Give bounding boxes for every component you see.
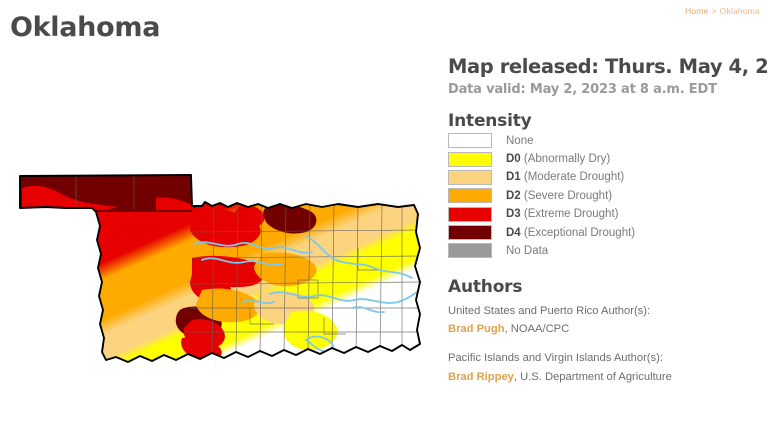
author-line: Brad Pugh, NOAA/CPC <box>448 319 762 337</box>
data-valid-date: Data valid: May 2, 2023 at 8 a.m. EDT <box>448 82 762 97</box>
legend-rows: NoneD0 (Abnormally Dry)D1 (Moderate Drou… <box>448 131 762 260</box>
authors-title: Authors <box>448 277 762 297</box>
legend-label: No Data <box>506 245 548 257</box>
author-name[interactable]: Brad Pugh <box>448 323 505 335</box>
legend-swatch-D2 <box>448 188 492 203</box>
author-affiliation: , U.S. Department of Agriculture <box>514 371 672 383</box>
breadcrumb-home[interactable]: Home <box>685 6 708 16</box>
breadcrumb-separator: > <box>711 6 716 16</box>
legend-row-no-data: No Data <box>448 242 762 260</box>
legend-swatch-D3 <box>448 207 492 222</box>
map-released-date: Map released: Thurs. May 4, 2023 <box>448 56 762 78</box>
legend-label: D0 (Abnormally Dry) <box>506 153 610 165</box>
legend-swatch-D4 <box>448 225 492 240</box>
author-entries: United States and Puerto Rico Author(s):… <box>448 303 762 384</box>
legend-label: D4 (Exceptional Drought) <box>506 227 635 239</box>
legend-row-d0: D0 (Abnormally Dry) <box>448 150 762 168</box>
author-block-2: Pacific Islands and Virgin Islands Autho… <box>448 350 762 384</box>
oklahoma-drought-monitor-map <box>6 162 438 392</box>
legend-row-d4: D4 (Exceptional Drought) <box>448 223 762 241</box>
legend-swatch-no-data <box>448 243 492 258</box>
map-svg <box>6 162 438 392</box>
legend-row-d2: D2 (Severe Drought) <box>448 187 762 205</box>
legend-swatch-D1 <box>448 170 492 185</box>
author-role: Pacific Islands and Virgin Islands Autho… <box>448 350 762 366</box>
breadcrumb: Home>Oklahoma <box>685 6 760 16</box>
legend-label: D2 (Severe Drought) <box>506 190 612 202</box>
legend-swatch-D0 <box>448 152 492 167</box>
legend-label: None <box>506 135 534 147</box>
legend-title: Intensity <box>448 111 762 131</box>
page-title: Oklahoma <box>10 12 160 43</box>
legend-swatch-none <box>448 133 492 148</box>
legend-row-none: None <box>448 131 762 149</box>
intensity-legend: Intensity NoneD0 (Abnormally Dry)D1 (Mod… <box>448 111 762 260</box>
info-panel: Map released: Thurs. May 4, 2023 Data va… <box>448 56 762 385</box>
author-name[interactable]: Brad Rippey <box>448 371 514 383</box>
breadcrumb-current: Oklahoma <box>720 6 760 16</box>
legend-label: D3 (Extreme Drought) <box>506 208 618 220</box>
author-affiliation: , NOAA/CPC <box>505 323 570 335</box>
author-block-1: United States and Puerto Rico Author(s):… <box>448 303 762 337</box>
legend-row-d3: D3 (Extreme Drought) <box>448 205 762 223</box>
legend-label: D1 (Moderate Drought) <box>506 171 624 183</box>
author-role: United States and Puerto Rico Author(s): <box>448 303 762 319</box>
authors-section: Authors United States and Puerto Rico Au… <box>448 277 762 384</box>
legend-row-d1: D1 (Moderate Drought) <box>448 168 762 186</box>
author-line: Brad Rippey, U.S. Department of Agricult… <box>448 367 762 385</box>
